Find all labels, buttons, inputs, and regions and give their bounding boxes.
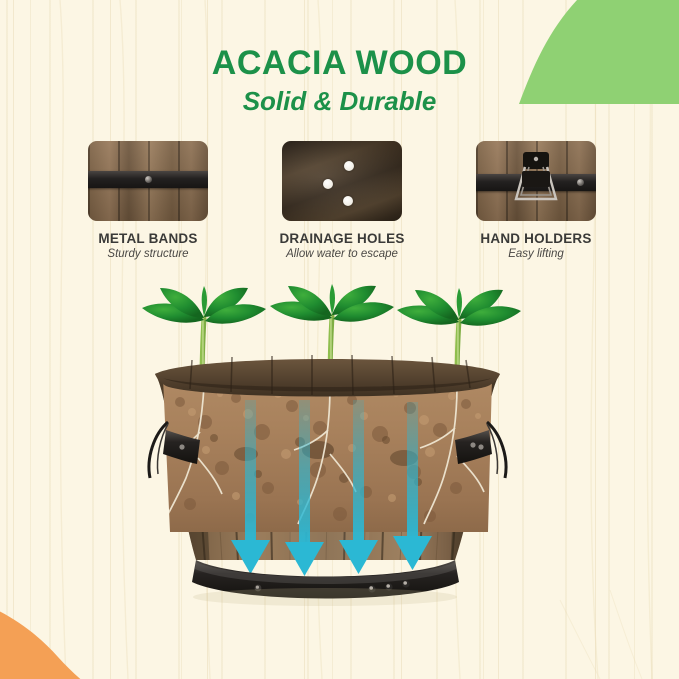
wood-texture-dark [282, 141, 402, 221]
hand-holders-thumbnail [476, 141, 596, 221]
page-title: ACACIA WOOD [0, 46, 679, 82]
feature-title: DRAINAGE HOLES [270, 231, 414, 246]
product-illustration [0, 282, 679, 642]
feature-subtitle: Easy lifting [466, 248, 606, 260]
drop-shadow [193, 588, 457, 606]
feature-card-list: METAL BANDS Sturdy structure DRAINAGE HO… [88, 141, 596, 260]
drainage-holes-thumbnail [282, 141, 402, 221]
rivet-icon [577, 179, 584, 186]
drainage-hole-icon [323, 179, 333, 189]
metal-bands-thumbnail [88, 141, 208, 221]
header: ACACIA WOOD Solid & Durable [0, 46, 679, 115]
feature-subtitle: Allow water to escape [270, 248, 414, 260]
barrel-rim [155, 355, 500, 397]
page-subtitle: Solid & Durable [0, 88, 679, 115]
feature-card-drainage-holes: DRAINAGE HOLES Allow water to escape [282, 141, 402, 260]
feature-card-metal-bands: METAL BANDS Sturdy structure [88, 141, 208, 260]
barrel-planter-graphic [0, 282, 679, 642]
drainage-hole-icon [344, 161, 354, 171]
feature-title: HAND HOLDERS [466, 231, 606, 246]
feature-card-hand-holders: HAND HOLDERS Easy lifting [476, 141, 596, 260]
infographic-canvas: ACACIA WOOD Solid & Durable METAL BANDS … [0, 0, 679, 679]
feature-subtitle: Sturdy structure [88, 248, 208, 260]
drainage-hole-icon [343, 196, 353, 206]
soil-cross-section [150, 372, 510, 542]
rivet-icon [145, 176, 152, 183]
feature-title: METAL BANDS [88, 231, 208, 246]
